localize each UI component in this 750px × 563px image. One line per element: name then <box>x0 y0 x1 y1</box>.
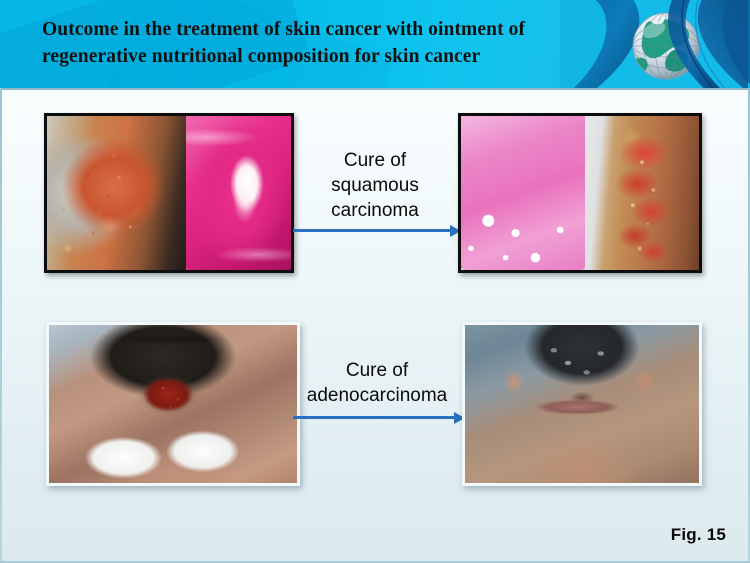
caption-cure-of-squamous-carcinoma: Cure of squamous carcinoma <box>300 148 450 223</box>
caption-cure-of-adenocarcinoma: Cure of adenocarcinoma <box>296 358 458 408</box>
page-title-line-2: regenerative nutritional composition for… <box>42 43 602 70</box>
pre-treatment-squamous-image <box>44 113 294 273</box>
squamous-post-clinical-panel <box>585 116 699 270</box>
page-title: Outcome in the treatment of skin cancer … <box>42 16 602 70</box>
keratin-pearl-histology <box>186 116 291 270</box>
neck-healed-scar-photo <box>465 325 699 483</box>
arrow-right-icon-adenocarcinoma <box>293 412 465 424</box>
slide-header: Outcome in the treatment of skin cancer … <box>0 0 750 88</box>
caption-squamous-line-3: carcinoma <box>300 198 450 223</box>
body-top-border <box>0 88 750 90</box>
caption-adeno-line-1: Cure of <box>296 358 458 383</box>
caption-squamous-line-2: squamous <box>300 173 450 198</box>
arrow-right-icon-squamous <box>293 225 461 237</box>
slide: Outcome in the treatment of skin cancer … <box>0 0 750 563</box>
globe-icon: EQUATOR <box>560 0 750 88</box>
arrow-shaft <box>293 416 455 419</box>
caption-adeno-line-2: adenocarcinoma <box>296 383 458 408</box>
neck-open-wound-photo <box>49 325 297 483</box>
squamous-post-histology-panel <box>461 116 585 270</box>
post-treatment-adenocarcinoma-image <box>462 322 702 486</box>
healing-limb-photo <box>585 116 699 270</box>
figure-label: Fig. 15 <box>671 525 726 545</box>
arrow-shaft <box>293 229 451 232</box>
squamous-histology-panel <box>186 116 291 270</box>
limb-tumor-photo <box>47 116 186 270</box>
pre-treatment-adenocarcinoma-image <box>46 322 300 486</box>
body-left-border <box>0 88 2 563</box>
page-title-line-1: Outcome in the treatment of skin cancer … <box>42 16 602 43</box>
squamous-clinical-photo-panel <box>47 116 186 270</box>
caption-squamous-line-1: Cure of <box>300 148 450 173</box>
post-treatment-squamous-image <box>458 113 702 273</box>
pale-histology-photo <box>461 116 585 270</box>
